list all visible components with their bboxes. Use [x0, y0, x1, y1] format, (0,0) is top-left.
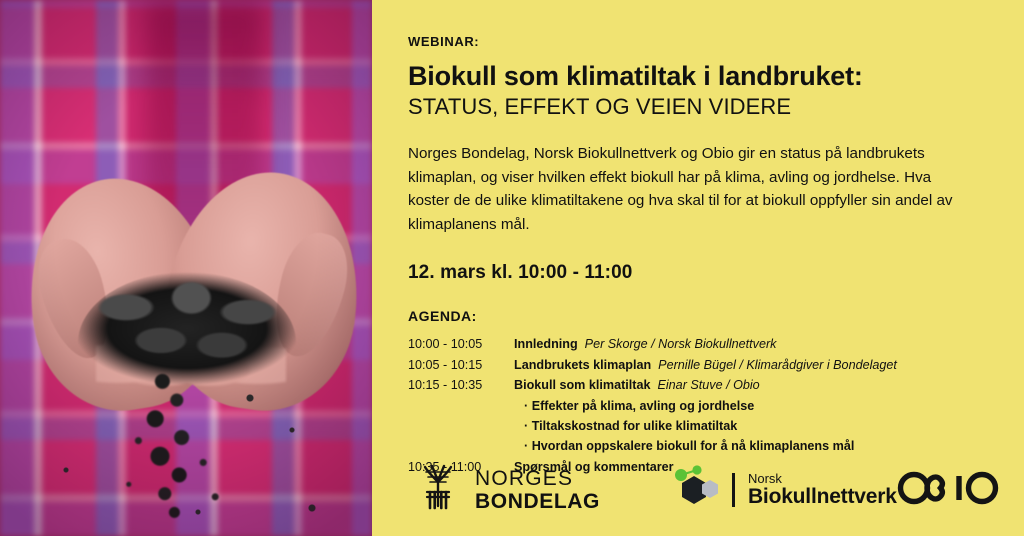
agenda-row: 10:15 - 10:35 Biokull som klimatiltak Ei…	[408, 375, 984, 395]
logo-norges-bondelag: NORGES BONDELAG	[412, 462, 600, 519]
bondelag-line1: NORGES	[475, 468, 600, 489]
webinar-poster: WEBINAR: Biokull som klimatiltak i landb…	[0, 0, 1024, 536]
bondelag-line2: BONDELAG	[475, 491, 600, 512]
agenda-row: 10:00 - 10:05 Innledning Per Skorge / No…	[408, 334, 984, 354]
bullet-indent	[408, 416, 524, 436]
bullet-indent	[408, 396, 524, 416]
biochar-hands-photo	[0, 0, 372, 536]
event-datetime: 12. mars kl. 10:00 - 11:00	[408, 262, 984, 284]
agenda-bullet: · Effekter på klima, avling og jordhelse	[408, 396, 984, 416]
biokullnettverk-wordmark: Norsk Biokullnettverk	[748, 472, 897, 508]
hexagon-cluster-icon	[668, 464, 720, 517]
agenda-speaker: Einar Stuve / Obio	[657, 378, 759, 392]
page-subtitle: STATUS, EFFEKT OG VEIEN VIDERE	[408, 94, 984, 120]
biokullnettverk-line2: Biokullnettverk	[748, 486, 897, 508]
agenda-bullet: · Tiltakskostnad for ulike klimatiltak	[408, 416, 984, 436]
agenda-title: Landbrukets klimaplan	[514, 358, 651, 372]
agenda-entry: Innledning Per Skorge / Norsk Biokullnet…	[514, 334, 984, 354]
agenda-bullet-text: · Effekter på klima, avling og jordhelse	[524, 396, 754, 416]
agenda-title: Biokull som klimatiltak	[514, 378, 650, 392]
webinar-kicker: WEBINAR:	[408, 34, 984, 49]
lead-paragraph: Norges Bondelag, Norsk Biokullnettverk o…	[408, 142, 953, 236]
agenda-time: 10:00 - 10:05	[408, 334, 514, 354]
agenda-time: 10:15 - 10:35	[408, 375, 514, 395]
agenda-title: Innledning	[514, 337, 578, 351]
photo-vignette	[0, 0, 372, 536]
wheat-sheaf-icon	[412, 462, 464, 519]
poster-content: WEBINAR: Biokull som klimatiltak i landb…	[372, 0, 1024, 536]
logo-strip: NORGES BONDELAG Norsk B	[408, 454, 996, 526]
bondelag-wordmark: NORGES BONDELAG	[475, 468, 600, 512]
agenda-speaker: Per Skorge / Norsk Biokullnettverk	[585, 337, 777, 351]
logo-divider	[732, 473, 735, 507]
agenda-bullet-text: · Tiltakskostnad for ulike klimatiltak	[524, 416, 737, 436]
logo-obio	[897, 470, 1001, 511]
agenda-entry: Biokull som klimatiltak Einar Stuve / Ob…	[514, 375, 984, 395]
logo-norsk-biokullnettverk: Norsk Biokullnettverk	[668, 464, 897, 517]
agenda-row: 10:05 - 10:15 Landbrukets klimaplan Pern…	[408, 355, 984, 375]
obio-infinity-wordmark-icon	[897, 470, 1001, 511]
agenda-entry: Landbrukets klimaplan Pernille Bügel / K…	[514, 355, 984, 375]
page-title: Biokull som klimatiltak i landbruket:	[408, 61, 984, 92]
biokullnettverk-line1: Norsk	[748, 472, 897, 486]
agenda-time: 10:05 - 10:15	[408, 355, 514, 375]
agenda-speaker: Pernille Bügel / Klimarådgiver i Bondela…	[658, 358, 897, 372]
agenda-heading: AGENDA:	[408, 308, 984, 324]
